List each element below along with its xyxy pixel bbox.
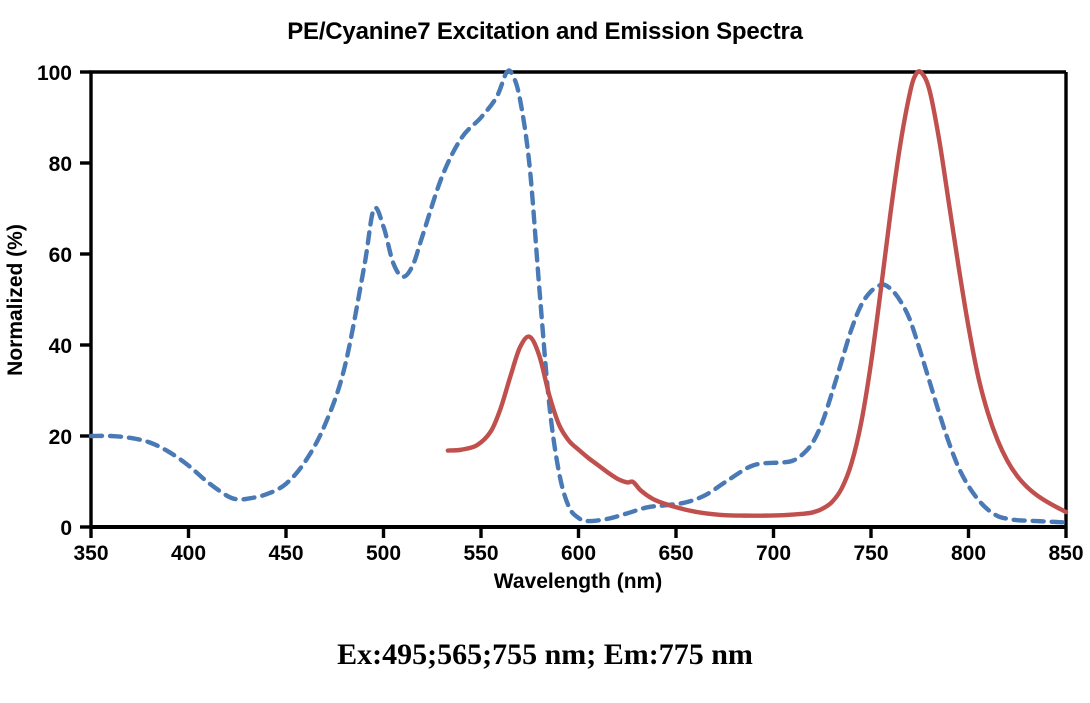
series-layer — [91, 70, 1066, 522]
spectra-figure: PE/Cyanine7 Excitation and Emission Spec… — [0, 0, 1090, 703]
x-tick-label: 600 — [561, 542, 596, 565]
x-tick-label: 450 — [268, 542, 303, 565]
y-axis-ticks: 020406080100 — [37, 62, 91, 540]
y-tick-label: 40 — [49, 335, 72, 358]
x-tick-label: 350 — [73, 542, 108, 565]
series-line-excitation — [91, 70, 1066, 522]
y-tick-label: 0 — [60, 517, 72, 540]
x-tick-label: 650 — [658, 542, 693, 565]
chart-caption: Ex:495;565;755 nm; Em:775 nm — [0, 638, 1090, 672]
x-tick-label: 700 — [756, 542, 791, 565]
x-tick-label: 400 — [171, 542, 206, 565]
y-tick-label: 80 — [49, 153, 72, 176]
x-axis-ticks: 350400450500550600650700750800850 — [73, 527, 1083, 565]
x-tick-label: 550 — [463, 542, 498, 565]
x-tick-label: 500 — [366, 542, 401, 565]
x-tick-label: 800 — [951, 542, 986, 565]
x-tick-label: 850 — [1048, 542, 1083, 565]
y-tick-label: 100 — [37, 62, 72, 85]
plot-frame — [91, 72, 1066, 527]
y-tick-label: 20 — [49, 426, 72, 449]
x-axis-title: Wavelength (nm) — [494, 570, 662, 593]
y-tick-label: 60 — [49, 244, 72, 267]
y-axis-title: Normalized (%) — [4, 224, 27, 376]
plot-canvas: 350400450500550600650700750800850 020406… — [0, 0, 1090, 703]
x-tick-label: 750 — [853, 542, 888, 565]
